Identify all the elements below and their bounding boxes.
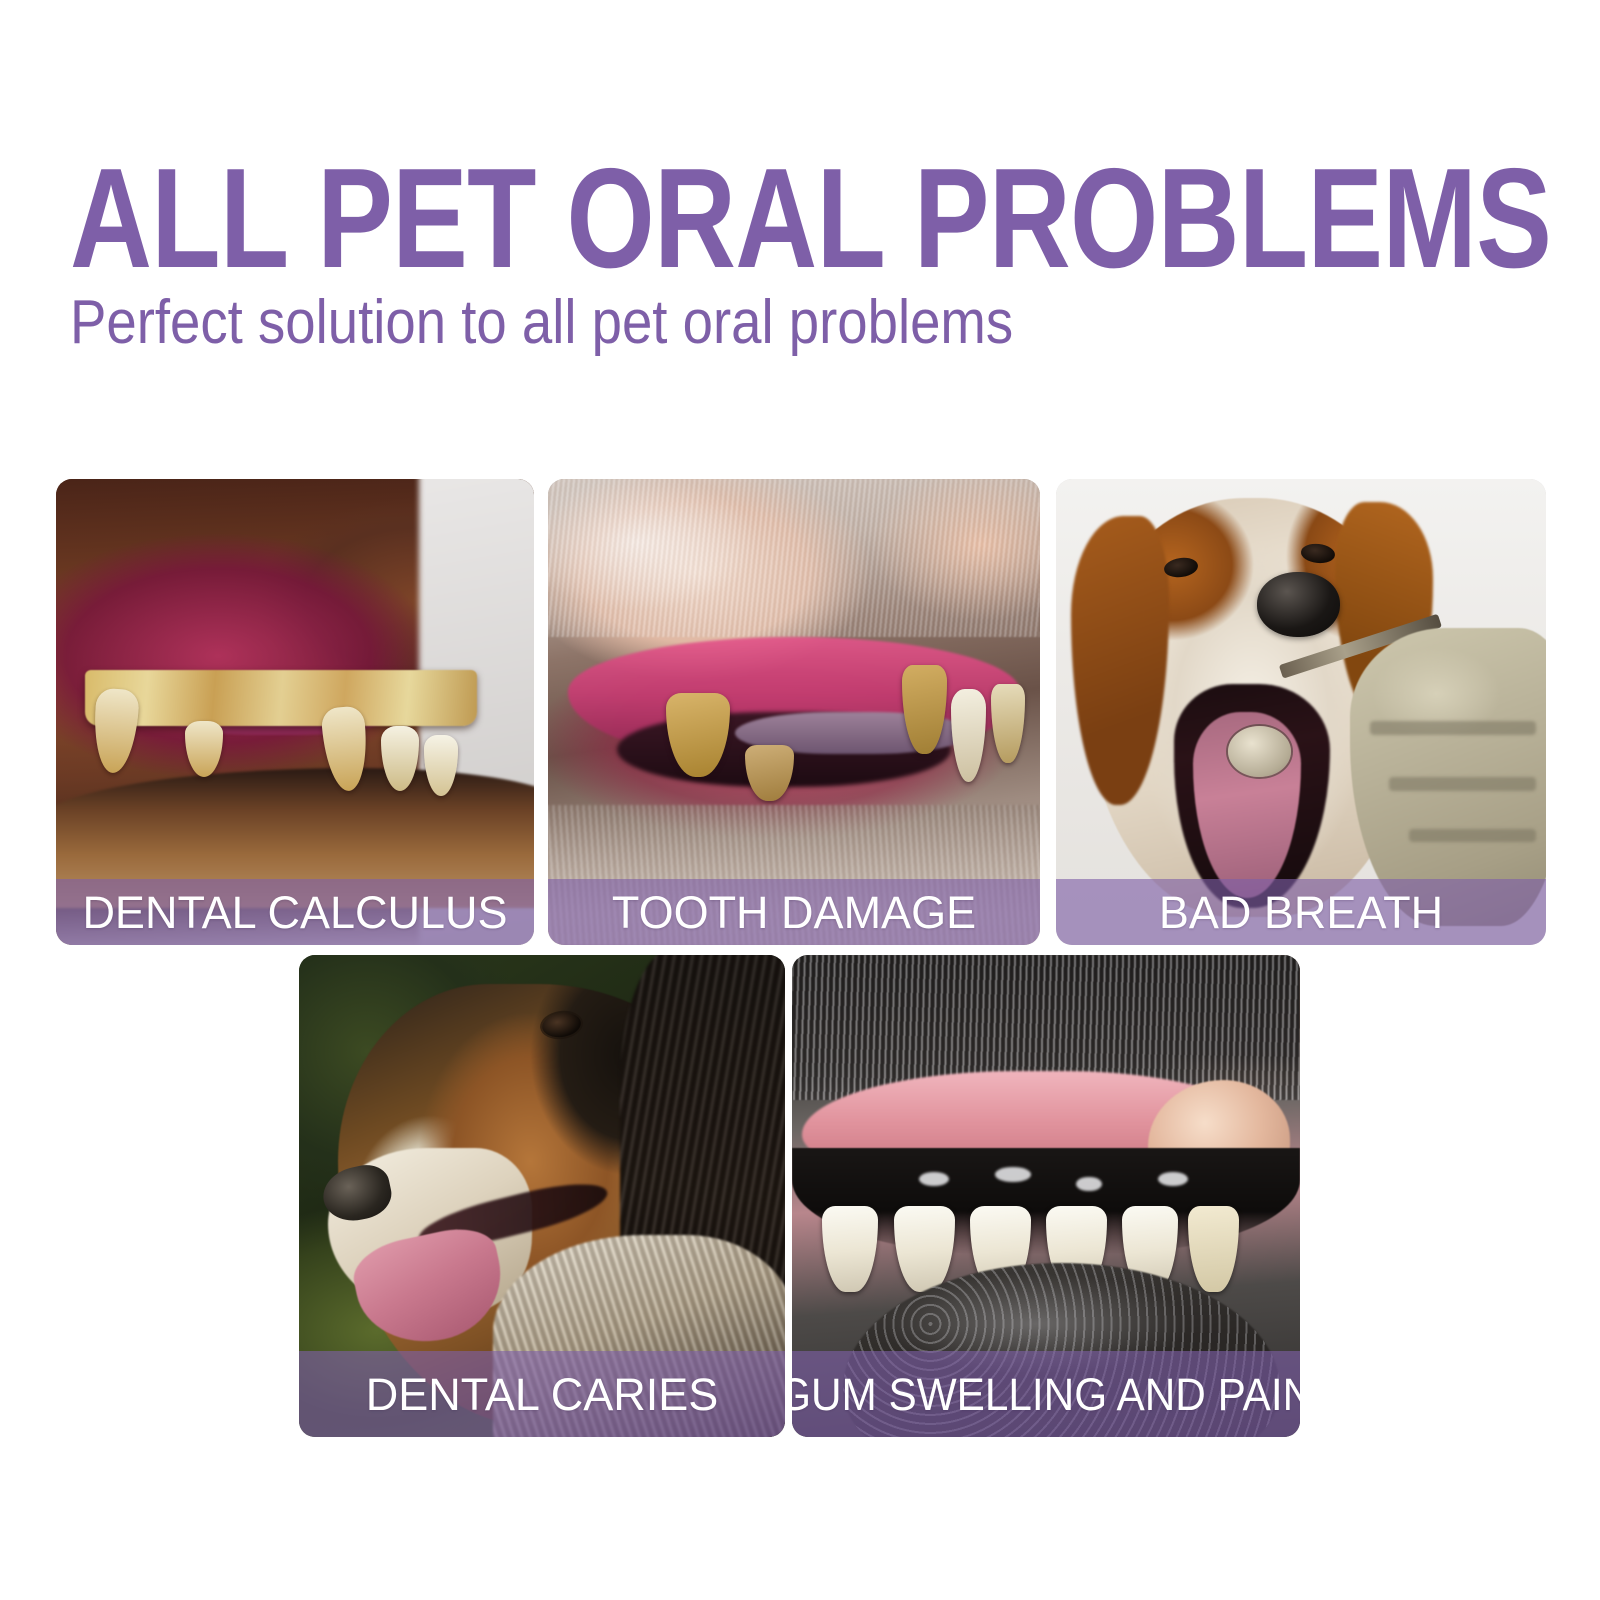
photo-broken-tooth [745,745,794,801]
problem-card-dental-calculus: DENTAL CALCULUS [56,479,534,945]
photo-tooth [951,689,985,782]
photo-tooth [1188,1206,1239,1293]
caption-label: BAD BREATH [1159,890,1443,935]
problem-card-dental-caries: DENTAL CARIES [299,955,785,1437]
photo-gum-highlight [995,1167,1031,1181]
photo-glove-crease [1370,721,1537,735]
caption-label: DENTAL CARIES [366,1372,719,1417]
photo-tooth-damage [548,479,1040,945]
caption-bar: DENTAL CARIES [299,1351,785,1437]
photo-bad-breath [1056,479,1546,945]
caption-bar: BAD BREATH [1056,879,1546,945]
photo-dental-calculus [56,479,534,945]
problem-card-gum-swelling: GUM SWELLING AND PAIN [792,955,1300,1437]
problem-card-bad-breath: BAD BREATH [1056,479,1546,945]
page-subtitle: Perfect solution to all pet oral problem… [70,292,1013,354]
caption-label: DENTAL CALCULUS [82,890,507,935]
photo-gum-highlight [1076,1177,1101,1191]
photo-fur-upper [548,479,1040,637]
page-title: ALL PET ORAL PROBLEMS [70,148,1551,290]
caption-bar: TOOTH DAMAGE [548,879,1040,945]
photo-tartar-band [85,670,477,726]
caption-bar: GUM SWELLING AND PAIN [792,1351,1300,1437]
photo-tooth [91,687,140,774]
photo-nose [1257,572,1340,637]
photo-tooth [894,1206,955,1293]
caption-label: GUM SWELLING AND PAIN [792,1372,1300,1417]
problem-card-tooth-damage: TOOTH DAMAGE [548,479,1040,945]
photo-tooth [991,684,1025,763]
photo-tooth [822,1206,878,1293]
caption-bar: DENTAL CALCULUS [56,879,534,945]
photo-tooth [185,721,223,777]
photo-dental-mirror [1228,726,1292,777]
photo-glove-crease [1409,829,1536,843]
caption-label: TOOTH DAMAGE [612,890,976,935]
photo-glove-crease [1389,777,1536,791]
